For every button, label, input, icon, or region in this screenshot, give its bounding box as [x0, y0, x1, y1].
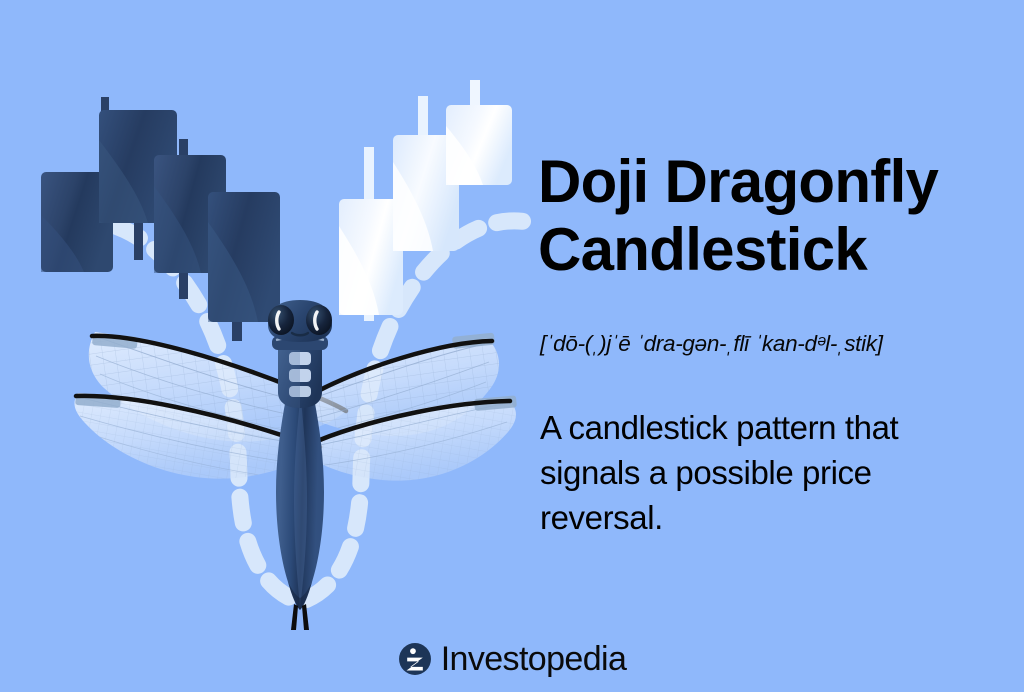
investopedia-logo: Investopedia [0, 634, 1024, 684]
infographic-poster: Doji Dragonfly Candlestick [ˈdō-(ˌ)jˈē ˈ… [0, 0, 1024, 692]
page-title: Doji Dragonfly Candlestick [538, 148, 1008, 285]
pronunciation-text: [ˈdō-(ˌ)jˈē ˈdra-gən-ˌflī ˈkan-dᵊl-ˌstik… [540, 330, 1010, 357]
dragonfly-eye-left [268, 305, 294, 335]
investopedia-wordmark: Investopedia [441, 642, 627, 676]
text-column: Doji Dragonfly Candlestick [ˈdō-(ˌ)jˈē ˈ… [538, 0, 1008, 692]
definition-text: A candlestick pattern that signals a pos… [540, 406, 940, 541]
investopedia-logo-mark [398, 642, 432, 676]
dragonfly-eye-right [306, 305, 332, 335]
dragonfly-head [268, 300, 332, 342]
